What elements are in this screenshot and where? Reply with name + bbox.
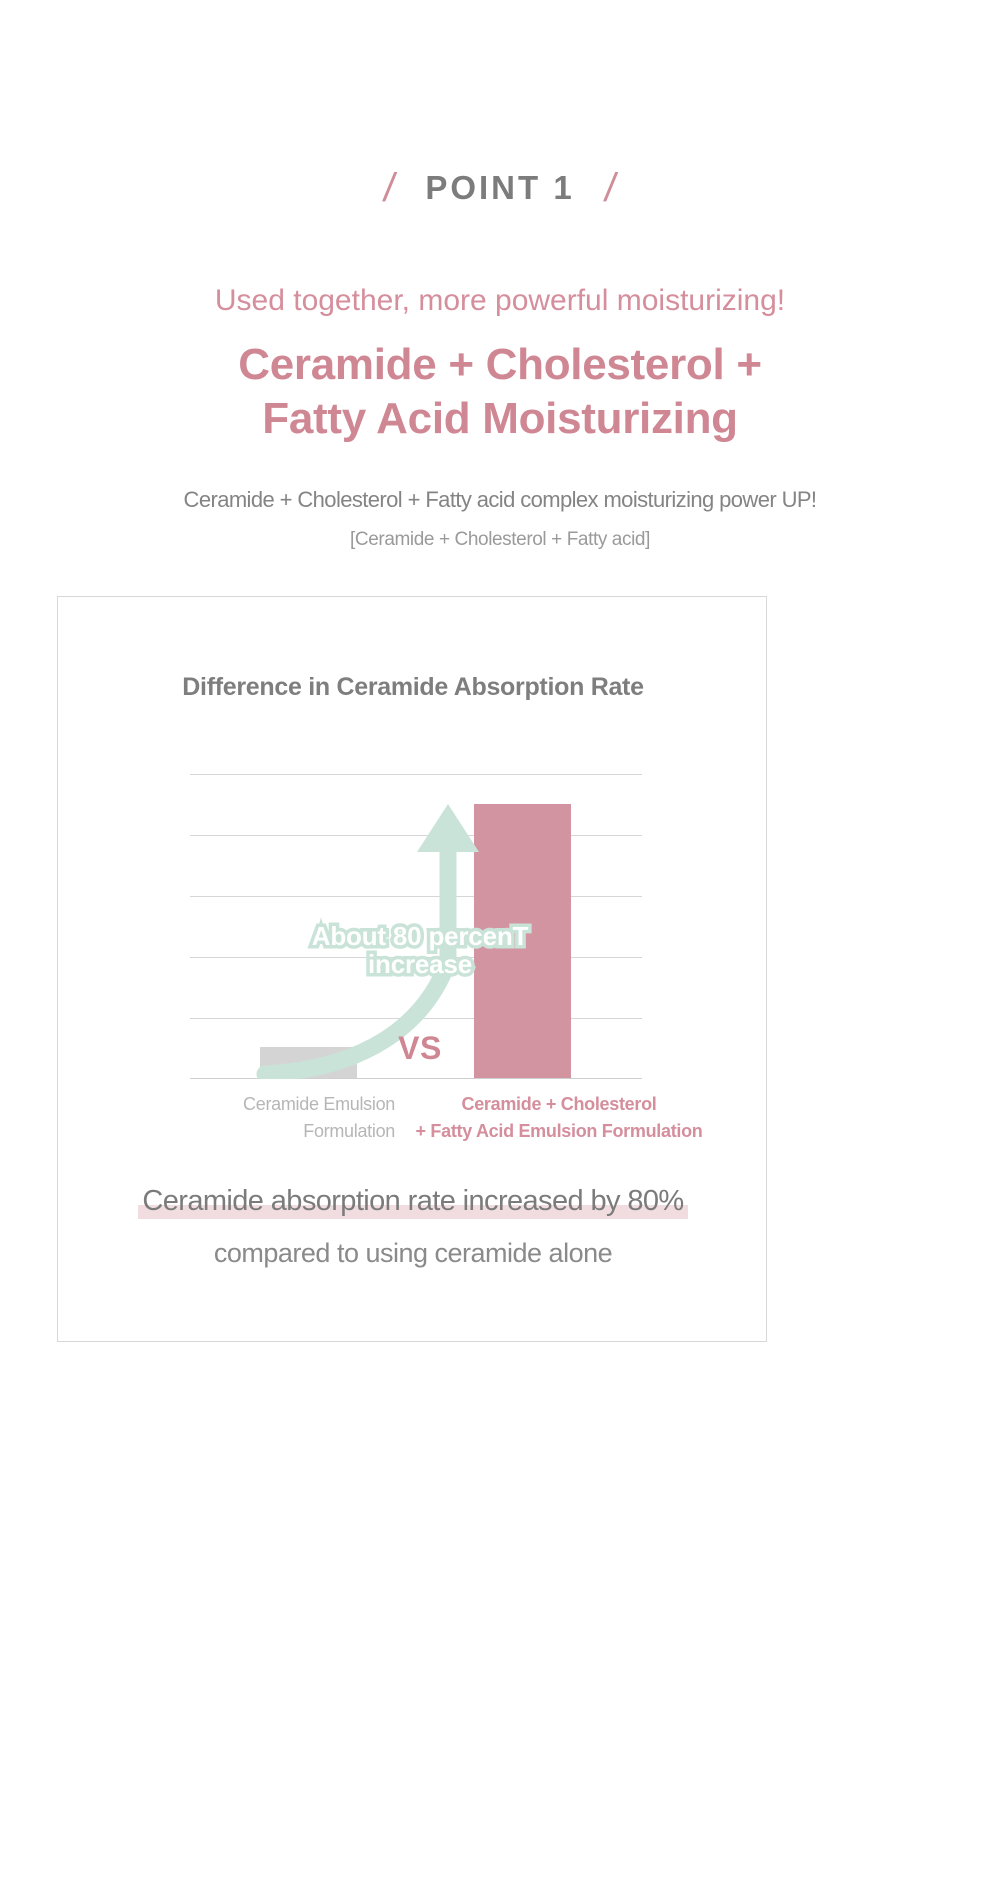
chart-conclusion: Ceramide absorption rate increased by 80…: [58, 1185, 768, 1269]
gridline: [190, 896, 642, 897]
callout-line-1: About 80 percenT: [300, 922, 540, 950]
category-label-left: Ceramide Emulsion Formulation: [190, 1091, 395, 1145]
category-right-line-2: + Fatty Acid Emulsion Formulation: [401, 1118, 717, 1145]
point-label: POINT 1: [425, 169, 574, 207]
axis-baseline: [190, 1078, 642, 1079]
slash-right-icon: /: [602, 168, 619, 208]
gridline: [190, 1018, 642, 1019]
point-header: / POINT 1 /: [0, 168, 1000, 208]
category-left-line-1: Ceramide Emulsion: [190, 1091, 395, 1118]
category-right-line-1: Ceramide + Cholesterol: [401, 1091, 717, 1118]
slash-left-icon: /: [381, 168, 398, 208]
chart-title: Difference in Ceramide Absorption Rate: [58, 673, 768, 702]
conclusion-main-wrap: Ceramide absorption rate increased by 80…: [138, 1185, 687, 1218]
intro-headline: Ceramide + Cholesterol + Fatty Acid Mois…: [0, 338, 1000, 445]
chart-card: Difference in Ceramide Absorption Rate A…: [57, 596, 767, 1342]
headline-line-1: Ceramide + Cholesterol +: [0, 338, 1000, 392]
category-left-line-2: Formulation: [190, 1118, 395, 1145]
intro-subtitle: Used together, more powerful moisturizin…: [0, 284, 1000, 318]
callout-line-2: increase: [300, 950, 540, 978]
intro-description: Ceramide + Cholesterol + Fatty acid comp…: [0, 487, 1000, 513]
chart-category-labels: Ceramide Emulsion Formulation Ceramide +…: [190, 1091, 642, 1145]
headline-line-2: Fatty Acid Moisturizing: [0, 392, 1000, 446]
gridline: [190, 835, 642, 836]
gridline: [190, 774, 642, 775]
conclusion-main-text: Ceramide absorption rate increased by 80…: [142, 1185, 683, 1217]
conclusion-sub-text: compared to using ceramide alone: [58, 1238, 768, 1269]
chart-plot-area: About 80 percenT increase VS: [190, 774, 642, 1079]
page-root: / POINT 1 / Used together, more powerful…: [0, 0, 1000, 1904]
category-label-right: Ceramide + Cholesterol + Fatty Acid Emul…: [401, 1091, 717, 1145]
bar-ceramide-emulsion: [260, 1047, 357, 1078]
intro-ingredients: [Ceramide + Cholesterol + Fatty acid]: [0, 529, 1000, 551]
chart-callout: About 80 percenT increase: [300, 922, 540, 978]
vs-label: VS: [365, 1030, 475, 1067]
